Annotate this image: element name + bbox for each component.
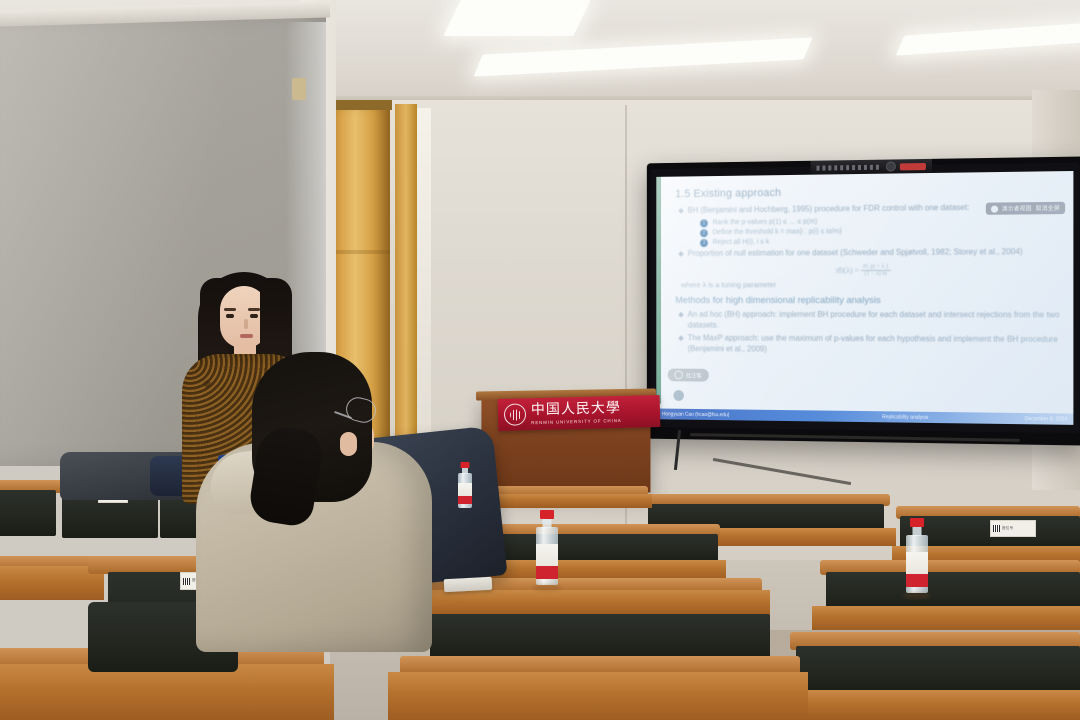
step-number: 1 [700, 219, 708, 227]
water-bottle[interactable] [906, 518, 928, 596]
bench-desktop [782, 690, 1080, 720]
presenter-mouth [240, 334, 253, 338]
wall-display[interactable]: 1.5 Existing approach BH (Benjamini and … [647, 156, 1080, 445]
bullet-marker-icon [678, 312, 683, 318]
bench-desktop [420, 590, 770, 616]
sensor-grille-icon [817, 164, 882, 170]
bullet-marker-icon [678, 251, 683, 257]
overlay-label-primary[interactable]: 演示者视图 [1002, 204, 1032, 212]
water-bottle[interactable] [458, 462, 472, 508]
university-seal-icon [504, 403, 527, 426]
bottle-label-accent [458, 496, 472, 504]
screen-left-accent [656, 177, 661, 404]
water-bottle[interactable] [536, 510, 558, 588]
display-screen[interactable]: 1.5 Existing approach BH (Benjamini and … [656, 171, 1073, 425]
camera-icon [886, 161, 896, 171]
bottle-label-accent [906, 574, 928, 587]
presenter-eye-left [226, 314, 234, 318]
overlay-label-secondary[interactable]: 取消全屏 [1036, 204, 1060, 212]
slide-formula: π̂0(λ) = #{ pj > λ } (1 − λ) m [668, 263, 1067, 279]
presenter-nose [244, 319, 248, 329]
bench-seatback [0, 490, 56, 536]
slide-step: 1 Rank the p-values p(1) ≤ … ≤ p(m) [700, 216, 1067, 227]
bottle-label [906, 552, 928, 574]
wood-pillar-cap [328, 100, 392, 110]
slide-section-heading: Methods for high dimensional replicabili… [675, 295, 1067, 306]
bench-desktop [388, 672, 808, 720]
qr-code-icon [993, 525, 1000, 532]
slide-bullet: Proportion of null estimation for one da… [679, 247, 1067, 260]
phone-on-desk[interactable] [444, 577, 493, 592]
bottle-body [906, 535, 928, 593]
bench-seat-plate: 座位号 [990, 520, 1036, 537]
bottle-shadow [533, 584, 561, 591]
bullet-marker-icon [678, 336, 683, 342]
avatar [673, 390, 683, 401]
slide-step: 2 Define the threshold k = max{i : p(i) … [700, 226, 1067, 237]
bench-desktop [812, 606, 1080, 630]
status-indicator [900, 162, 926, 169]
bottle-cap [540, 510, 554, 519]
step-number: 3 [700, 239, 708, 247]
university-name-en: RENMIN UNIVERSITY OF CHINA [531, 417, 622, 424]
university-name-cn: 中国人民大學 [531, 401, 622, 417]
slide-title: 1.5 Existing approach [675, 183, 1067, 200]
bottle-cap [910, 518, 924, 527]
bench-seatback [430, 614, 770, 658]
presenter-eye-right [250, 314, 258, 318]
footer-date: December 8, 2024 [981, 415, 1073, 422]
presenter-brow-left [224, 308, 236, 311]
slide-bullet-text: The MaxP approach: use the maximum of p-… [688, 334, 1067, 358]
slide-bullet: The MaxP approach: use the maximum of p-… [679, 334, 1067, 358]
step-text: Rank the p-values p(1) ≤ … ≤ p(m) [713, 218, 818, 226]
slide-bullet: An ad hoc (BH) approach: implement BH pr… [679, 310, 1067, 332]
slide-formula-note: where λ is a tuning parameter [681, 279, 1067, 289]
slide-step: 3 Reject all H(i), i ≤ k [700, 236, 1067, 246]
bench-seatback [796, 646, 1080, 694]
presenter-overlay-toolbar[interactable]: 演示者视图 取消全屏 [986, 202, 1065, 215]
qr-code-icon [183, 578, 190, 585]
annotation-pen-button[interactable]: 批注笔 [668, 369, 709, 382]
slide-bullet-text: Proportion of null estimation for one da… [688, 247, 1067, 260]
footer-author: Hongyuan Cao (hcao@fsu.edu) [656, 411, 830, 419]
bottle-label-accent [536, 566, 558, 579]
bullet-marker-icon [678, 208, 683, 214]
bench-desktop [0, 664, 334, 720]
wood-pillar-band [330, 250, 390, 254]
formula-denominator: (1 − λ) m [865, 271, 887, 277]
bottle-shadow [903, 592, 931, 599]
footer-subject: Replicability analysis [830, 413, 981, 421]
annotation-pen-label: 批注笔 [686, 371, 702, 379]
lecture-room-photo: 1.5 Existing approach BH (Benjamini and … [0, 0, 1080, 720]
blind-bracket [292, 78, 306, 100]
bottle-body [536, 527, 558, 585]
bottle-body [458, 473, 472, 508]
step-text: Reject all H(i), i ≤ k [713, 238, 770, 245]
bench-plate-text: 座位号 [1002, 527, 1013, 531]
record-icon [674, 371, 683, 380]
ceiling-light-panel-1 [443, 0, 591, 36]
slide-bullet-text: An ad hoc (BH) approach: implement BH pr… [688, 310, 1067, 332]
step-text: Define the threshold k = max{i : p(i) ≤ … [713, 228, 842, 236]
formula-lhs: π̂0(λ) = [836, 266, 860, 275]
bottle-label [536, 544, 558, 566]
bottle-label [458, 483, 472, 496]
presenter-brow-right [248, 308, 260, 311]
attendee-ear [340, 432, 357, 456]
university-nameplate: 中国人民大學 RENMIN UNIVERSITY OF CHINA [498, 395, 661, 431]
presentation-slide: 1.5 Existing approach BH (Benjamini and … [668, 181, 1067, 406]
user-icon [991, 205, 998, 212]
formula-fraction: #{ pj > λ } (1 − λ) m [861, 263, 891, 277]
step-number: 2 [700, 229, 708, 237]
attendee-front [196, 352, 432, 652]
